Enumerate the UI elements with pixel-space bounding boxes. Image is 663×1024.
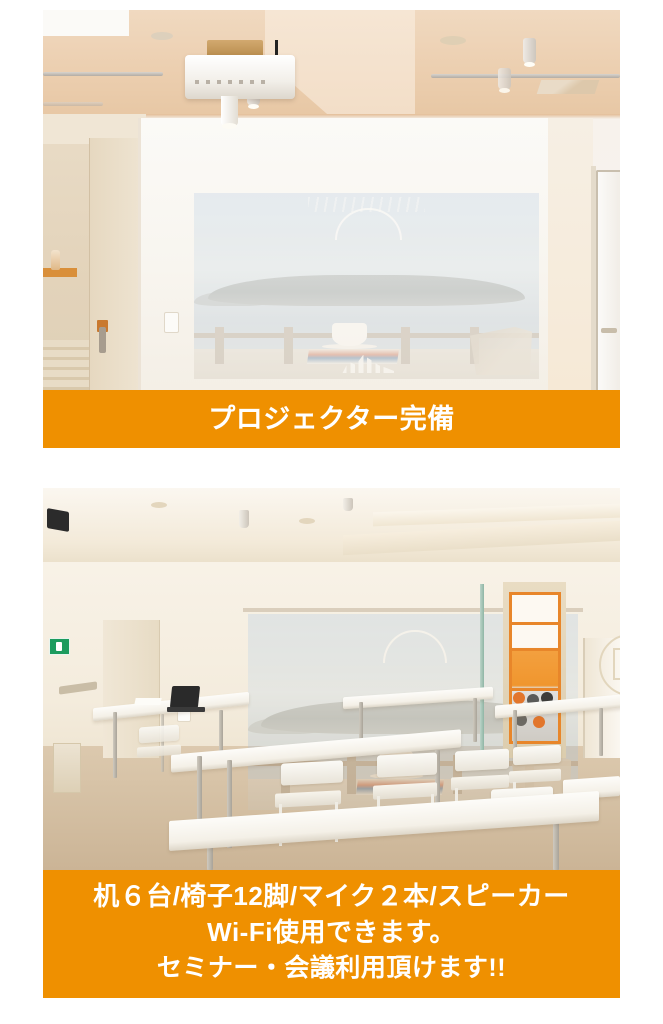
projected-rail-post [284, 327, 293, 364]
paper-document [134, 698, 161, 705]
right-door [596, 170, 620, 390]
projected-island [208, 275, 525, 307]
ceiling-projector [185, 55, 295, 99]
emergency-exit-sign [49, 638, 70, 655]
shelf-divider [509, 622, 561, 625]
bottle-object [51, 250, 60, 270]
ceiling-speaker [47, 508, 69, 532]
light-switch [164, 312, 179, 333]
projected-image [194, 193, 539, 379]
spotlight-fixture [343, 498, 353, 511]
table-leg [473, 698, 477, 742]
caption-line-equipment: 机６台/椅子12脚/マイク２本/スピーカー [43, 879, 620, 915]
partition-pole [480, 584, 484, 760]
storage-rack [43, 340, 91, 390]
shelf-divider [509, 648, 561, 651]
table-leg [113, 712, 117, 778]
projected-rail-post [215, 327, 224, 364]
promo-page: プロジェクター完備 [0, 0, 663, 1024]
shelf-divider [509, 688, 561, 691]
folding-chair-back [513, 745, 561, 766]
caption-line-usage: セミナー・会議利用頂けます!! [43, 951, 620, 986]
facility-block-seminar-room: 机６台/椅子12脚/マイク２本/スピーカー Wi-Fi使用できます。 セミナー・… [43, 488, 620, 998]
wall-cabinet [53, 743, 81, 793]
projected-rail-post [401, 327, 410, 364]
table-leg [599, 708, 603, 756]
projected-coffee-cup [332, 323, 367, 345]
light-track-rail [431, 74, 620, 78]
spotlight-fixture [498, 68, 511, 90]
door-handle [99, 327, 106, 353]
projected-chair [470, 327, 532, 375]
projected-rail-post [347, 755, 356, 794]
laptop [170, 686, 200, 708]
folding-chair-back [455, 749, 509, 772]
light-track-rail [43, 102, 103, 106]
right-wall-section [548, 118, 593, 390]
recessed-light [151, 32, 173, 40]
wall-shelf [43, 268, 77, 277]
projector-vent-slots [195, 80, 269, 84]
seminar-room-photo [43, 488, 620, 870]
spotlight-fixture [523, 38, 536, 64]
light-track-rail [43, 72, 163, 76]
projector-lens [221, 96, 238, 126]
caption-seminar-room: 机６台/椅子12脚/マイク２本/スピーカー Wi-Fi使用できます。 セミナー・… [43, 870, 620, 998]
ceiling-white-section [43, 10, 129, 36]
right-door-handle [601, 328, 617, 333]
table-leg [161, 714, 164, 772]
folding-chair-back [139, 725, 179, 744]
ceiling-vent [537, 80, 600, 94]
projector-room-photo [43, 10, 620, 390]
laptop-base [167, 707, 205, 712]
caption-line: プロジェクター完備 [43, 390, 620, 448]
yoga-mat [533, 716, 545, 728]
projected-book [307, 349, 399, 364]
recessed-light [299, 518, 315, 524]
folding-chair-back [281, 760, 343, 785]
wall-panel-edge [138, 118, 141, 390]
folding-chair-back [377, 752, 437, 777]
recessed-light [440, 36, 466, 45]
caption-line-wifi: Wi-Fi使用できます。 [43, 915, 620, 951]
spotlight-fixture [239, 510, 249, 528]
table-leg [553, 820, 559, 870]
wall-square-graphic [613, 648, 620, 680]
recessed-light [151, 502, 167, 508]
caption-projector: プロジェクター完備 [43, 390, 620, 448]
facility-block-projector: プロジェクター完備 [43, 10, 620, 448]
